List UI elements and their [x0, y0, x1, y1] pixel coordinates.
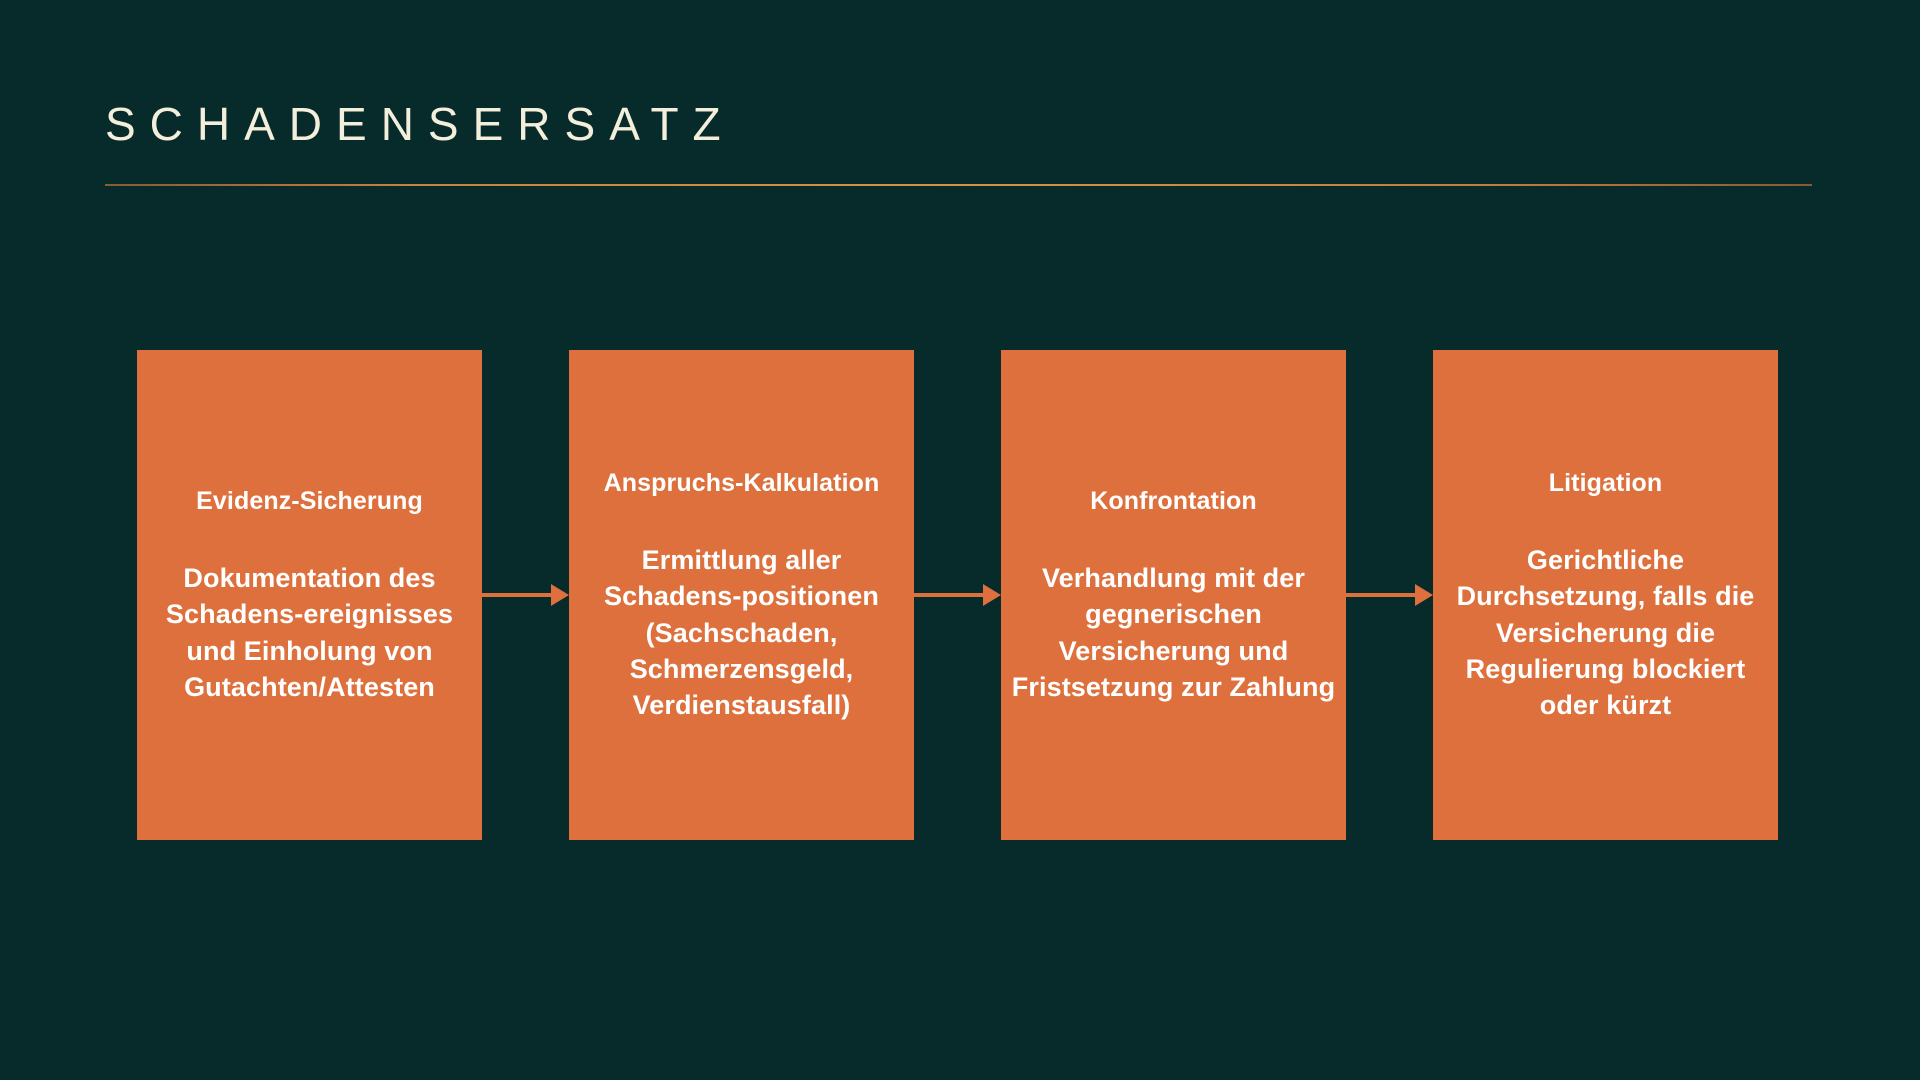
arrow-head-1 — [551, 584, 569, 606]
flow-step-title-2: Anspruchs-Kalkulation — [604, 467, 880, 500]
arrow-right-icon-1 — [482, 584, 569, 606]
flow-step-card-4[interactable]: Litigation Gerichtliche Durchsetzung, fa… — [1433, 350, 1778, 840]
title-divider-rule — [105, 184, 1812, 186]
page-title: SCHADENSERSATZ — [105, 101, 735, 147]
flow-step-card-2[interactable]: Anspruchs-Kalkulation Ermittlung aller S… — [569, 350, 914, 840]
process-flow: Evidenz-Sicherung Dokumentation des Scha… — [137, 350, 1778, 840]
flow-step-body-1: Dokumentation des Schadens-ereignisses u… — [145, 560, 474, 705]
arrow-shaft-2 — [914, 593, 983, 597]
flow-connector-3 — [1346, 350, 1433, 840]
flow-step-card-3[interactable]: Konfrontation Verhandlung mit der gegner… — [1001, 350, 1346, 840]
arrow-right-icon-2 — [914, 584, 1001, 606]
flow-step-title-1: Evidenz-Sicherung — [196, 485, 423, 518]
flow-step-body-4: Gerichtliche Durchsetzung, falls die Ver… — [1441, 542, 1770, 723]
flow-step-title-4: Litigation — [1549, 467, 1662, 500]
flow-step-body-2: Ermittlung aller Schadens-positionen (Sa… — [577, 542, 906, 723]
flow-connector-2 — [914, 350, 1001, 840]
flow-step-body-3: Verhandlung mit der gegnerischen Versich… — [1009, 560, 1338, 705]
arrow-right-icon-3 — [1346, 584, 1433, 606]
slide-canvas: SCHADENSERSATZ Evidenz-Sicherung Dokumen… — [0, 0, 1920, 1080]
flow-connector-1 — [482, 350, 569, 840]
arrow-head-2 — [983, 584, 1001, 606]
flow-step-card-1[interactable]: Evidenz-Sicherung Dokumentation des Scha… — [137, 350, 482, 840]
arrow-shaft-1 — [482, 593, 551, 597]
flow-step-title-3: Konfrontation — [1090, 485, 1257, 518]
arrow-shaft-3 — [1346, 593, 1415, 597]
arrow-head-3 — [1415, 584, 1433, 606]
